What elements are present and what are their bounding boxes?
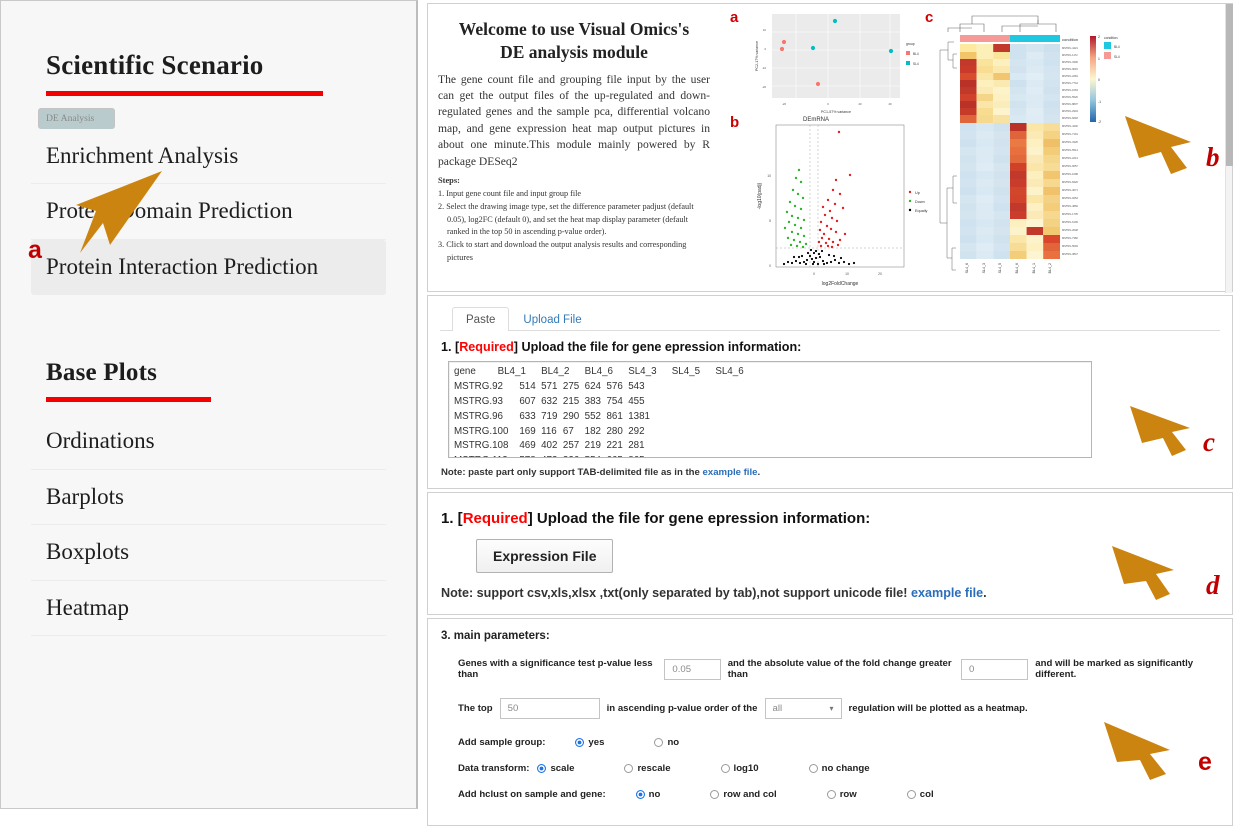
svg-text:MSTRG.2904: MSTRG.2904: [1062, 109, 1078, 113]
param-hclust-label: Add hclust on sample and gene:: [458, 789, 606, 800]
param-pvalue-input[interactable]: 0.05: [664, 659, 720, 680]
radio-sample-group-no-label: no: [667, 737, 679, 748]
expression-heatmap: condition: [938, 8, 1126, 292]
svg-text:2: 2: [1098, 35, 1100, 39]
svg-text:condition: condition: [1062, 37, 1078, 42]
svg-text:MSTRG.6618: MSTRG.6618: [1062, 116, 1078, 120]
svg-text:BL4: BL4: [913, 52, 919, 56]
upload-note: Note: support csv,xls,xlsx ,txt(only sep…: [441, 586, 1220, 600]
sidebar-item-barplots[interactable]: Barplots: [31, 470, 386, 525]
svg-text:MSTRG.7191: MSTRG.7191: [1062, 132, 1078, 136]
main-parameters-heading: 3. main parameters:: [441, 630, 1220, 642]
annotation-label-e: e: [1198, 748, 1212, 777]
svg-text:MSTRG.7382: MSTRG.7382: [1062, 236, 1078, 240]
radio-transform-rescale[interactable]: rescale: [624, 763, 670, 774]
svg-text:1: 1: [1098, 57, 1100, 61]
sidebar-item-de-analysis[interactable]: DE Analysis: [38, 108, 115, 129]
paste-required-label: 1. [Required] Upload the file for gene e…: [441, 340, 1220, 354]
radio-dot-icon: [809, 764, 818, 773]
annotation-arrow-d: [1112, 540, 1194, 602]
svg-text:MSTRG.1735: MSTRG.1735: [1062, 212, 1078, 216]
param-foldchange-input[interactable]: 0: [961, 659, 1028, 680]
sidebar-item-boxplots[interactable]: Boxplots: [31, 525, 386, 580]
svg-text:MSTRG.8837: MSTRG.8837: [1062, 102, 1078, 106]
svg-text:MSTRG.2281: MSTRG.2281: [1062, 74, 1078, 78]
svg-text:SL4: SL4: [1114, 55, 1120, 59]
svg-text:10: 10: [845, 272, 849, 276]
svg-text:BL4_2: BL4_2: [1048, 263, 1052, 273]
input-mode-tabs: Paste Upload File: [440, 306, 1220, 331]
svg-text:MSTRG.5514: MSTRG.5514: [1062, 148, 1078, 152]
paste-note: Note: paste part only support TAB-delimi…: [441, 467, 1220, 478]
svg-text:SL4: SL4: [913, 62, 919, 66]
param-topn-mid-label: in ascending p-value order of the: [607, 703, 758, 714]
radio-hclust-row-and-col[interactable]: row and col: [710, 789, 776, 800]
svg-text:MSTRG.5520: MSTRG.5520: [1062, 95, 1078, 99]
svg-text:DEmRNA: DEmRNA: [803, 117, 829, 123]
intro-paragraph: The gene count file and grouping file in…: [438, 72, 710, 171]
param-sample-group-label: Add sample group:: [458, 737, 545, 748]
annotation-arrow-e: [1104, 716, 1190, 782]
svg-text:-2: -2: [1098, 120, 1101, 124]
annotation-label-c: c: [1203, 427, 1215, 458]
svg-text:0: 0: [769, 264, 771, 268]
param-topn-pre-label: The top: [458, 703, 493, 714]
svg-text:BL4: BL4: [1114, 45, 1120, 49]
radio-transform-rescale-label: rescale: [637, 763, 670, 774]
paste-required-suffix: ] Upload the file for gene epression inf…: [514, 340, 802, 354]
upload-required-prefix: 1. [: [441, 510, 463, 527]
svg-text:MSTRG.1172: MSTRG.1172: [1062, 53, 1078, 57]
radio-dot-icon: [654, 738, 663, 747]
upload-example-file-link[interactable]: example file: [911, 586, 983, 600]
annotation-label-b: b: [1206, 142, 1220, 173]
param-regulation-select-value: all: [773, 703, 783, 714]
annotation-arrow-b: [1125, 106, 1211, 176]
svg-text:0: 0: [764, 47, 766, 51]
sidebar-section-base-plots: Base Plots Ordinations Barplots Boxplots…: [31, 321, 386, 636]
intro-step-3: 3. Click to start and download the outpu…: [438, 239, 710, 264]
intro-step-2: 2. Select the drawing image type, set th…: [438, 201, 710, 239]
pca-scatter-plot: 10 0 -10 -20 -20 0 20 40 PC1-57% varianc…: [744, 10, 924, 118]
param-pvalue-pre-label: Genes with a significance test p-value l…: [458, 658, 657, 680]
radio-dot-icon: [575, 738, 584, 747]
svg-text:5: 5: [769, 219, 771, 223]
svg-text:MSTRG.9015: MSTRG.9015: [1062, 67, 1078, 71]
sidebar-item-heatmap[interactable]: Heatmap: [31, 581, 386, 636]
svg-text:-log10(padj): -log10(padj): [757, 182, 763, 209]
chevron-down-icon: ▾: [829, 704, 833, 713]
radio-hclust-row-label: row: [840, 789, 857, 800]
radio-hclust-no[interactable]: no: [636, 789, 661, 800]
svg-text:0: 0: [813, 272, 815, 276]
radio-transform-log10[interactable]: log10: [721, 763, 759, 774]
svg-text:20: 20: [878, 272, 882, 276]
svg-text:-20: -20: [762, 85, 766, 89]
svg-text:20: 20: [858, 102, 862, 106]
svg-text:MSTRG.1098: MSTRG.1098: [1062, 172, 1078, 176]
intro-heading: Welcome to use Visual Omics's DE analysi…: [452, 18, 696, 64]
paste-required-prefix: 1. [: [441, 340, 459, 354]
sidebar-section-title-base-plots: Base Plots: [46, 359, 386, 387]
svg-text:SL4_6: SL4_6: [965, 263, 969, 273]
svg-text:MSTRG.4402: MSTRG.4402: [1062, 124, 1078, 128]
radio-transform-scale[interactable]: scale: [537, 763, 574, 774]
radio-transform-scale-label: scale: [550, 763, 574, 774]
svg-text:MSTRG.3390: MSTRG.3390: [1062, 60, 1078, 64]
sidebar-item-ordinations[interactable]: Ordinations: [31, 414, 386, 469]
radio-dot-icon: [624, 764, 633, 773]
upload-note-text: Note: support csv,xls,xlsx ,txt(only sep…: [441, 586, 911, 600]
paste-input-card: Paste Upload File 1. [Required] Upload t…: [427, 295, 1233, 489]
radio-dot-icon: [636, 790, 645, 799]
radio-dot-icon: [721, 764, 730, 773]
intro-steps-label: Steps:: [438, 176, 710, 185]
expression-file-button[interactable]: Expression File: [476, 539, 613, 573]
paste-note-end: .: [757, 467, 760, 478]
radio-hclust-col[interactable]: col: [907, 789, 934, 800]
annotation-arrow-c: [1130, 398, 1210, 458]
svg-text:MSTRG.4860: MSTRG.4860: [1062, 204, 1078, 208]
figure-panel-label-a: a: [730, 9, 738, 26]
annotation-label-d: d: [1206, 570, 1220, 601]
svg-text:log2FoldChange: log2FoldChange: [822, 281, 859, 287]
tab-upload-file[interactable]: Upload File: [509, 307, 595, 331]
svg-text:PC2-17% variance: PC2-17% variance: [755, 41, 759, 71]
svg-text:BL4_6: BL4_6: [1015, 263, 1019, 273]
svg-text:0: 0: [1098, 78, 1100, 82]
svg-text:MSTRG.2648: MSTRG.2648: [1062, 228, 1078, 232]
svg-text:MSTRG.9254: MSTRG.9254: [1062, 196, 1078, 200]
scrollbar-thumb[interactable]: [1226, 4, 1233, 166]
upload-required-label: 1. [Required] Upload the file for gene e…: [441, 510, 1220, 527]
intro-card: Welcome to use Visual Omics's DE analysi…: [427, 3, 1233, 292]
intro-step-1: 1. Input gene count file and input group…: [438, 188, 710, 201]
svg-text:Up: Up: [915, 191, 920, 195]
paste-note-text: Note: paste part only support TAB-delimi…: [441, 467, 703, 478]
svg-text:10: 10: [763, 28, 767, 32]
radio-dot-icon: [907, 790, 916, 799]
svg-text:BL4_1: BL4_1: [1032, 263, 1036, 273]
radio-hclust-row-and-col-label: row and col: [723, 789, 776, 800]
param-topn-post-label: regulation will be plotted as a heatmap.: [849, 703, 1028, 714]
svg-text:MSTRG.8420: MSTRG.8420: [1062, 180, 1078, 184]
svg-text:MSTRG.5093: MSTRG.5093: [1062, 244, 1078, 248]
sidebar-title-underline-1: [46, 91, 323, 96]
gene-expression-textarea[interactable]: gene BL4_1 BL4_2 BL4_6 SL4_3 SL4_5 SL4_6…: [448, 361, 1092, 458]
intro-card-scrollbar[interactable]: [1225, 4, 1232, 293]
param-threshold-post-label: and will be marked as significantly diff…: [1035, 658, 1220, 680]
param-data-transform-label: Data transform:: [458, 763, 529, 774]
svg-text:MSTRG.6657: MSTRG.6657: [1062, 164, 1078, 168]
annotation-arrow-a: [76, 171, 164, 263]
svg-text:MSTRG.1063: MSTRG.1063: [1062, 88, 1078, 92]
svg-text:MSTRG.6109: MSTRG.6109: [1062, 220, 1078, 224]
svg-text:SL4_3: SL4_3: [982, 263, 986, 273]
svg-text:MSTRG.2213: MSTRG.2213: [1062, 156, 1078, 160]
svg-text:group: group: [906, 42, 915, 46]
volcano-plot: DEmRNA: [744, 112, 934, 290]
upload-required-word: Required: [463, 510, 528, 527]
radio-dot-icon: [537, 764, 546, 773]
radio-dot-icon: [827, 790, 836, 799]
upload-required-suffix: ] Upload the file for gene epression inf…: [528, 510, 871, 527]
sidebar-section-title-scientific-scenario: Scientific Scenario: [46, 50, 386, 81]
svg-text:MSTRG.7744: MSTRG.7744: [1062, 81, 1078, 85]
param-topn-input[interactable]: 50: [500, 698, 600, 719]
svg-text:MSTRG.3326: MSTRG.3326: [1062, 140, 1078, 144]
radio-hclust-no-label: no: [649, 789, 661, 800]
radio-hclust-row[interactable]: row: [827, 789, 857, 800]
tab-paste[interactable]: Paste: [452, 307, 509, 331]
sidebar-title-underline-2: [46, 397, 211, 402]
svg-text:10: 10: [767, 174, 771, 178]
param-regulation-select[interactable]: all ▾: [765, 698, 842, 719]
radio-transform-no-change-label: no change: [822, 763, 870, 774]
sidebar-menu-base-plots: Ordinations Barplots Boxplots Heatmap: [31, 414, 386, 636]
radio-transform-no-change[interactable]: no change: [809, 763, 870, 774]
svg-text:MSTRG.3847: MSTRG.3847: [1062, 252, 1078, 256]
paste-required-word: Required: [459, 340, 514, 354]
svg-text:-20: -20: [782, 102, 786, 106]
param-row-hclust: Add hclust on sample and gene: no row an…: [458, 789, 1220, 800]
svg-text:-10: -10: [762, 66, 766, 70]
svg-text:MSTRG.4421: MSTRG.4421: [1062, 46, 1078, 50]
param-row-threshold: Genes with a significance test p-value l…: [458, 658, 1220, 680]
figure-panel-label-c: c: [925, 9, 933, 26]
radio-hclust-col-label: col: [920, 789, 934, 800]
app-root: Scientific Scenario DE Analysis Enrichme…: [0, 0, 1239, 809]
svg-text:condition: condition: [1104, 36, 1118, 40]
svg-text:SL4_5: SL4_5: [998, 263, 1002, 273]
svg-text:MSTRG.3071: MSTRG.3071: [1062, 188, 1078, 192]
radio-sample-group-yes-label: yes: [588, 737, 604, 748]
svg-text:40: 40: [888, 102, 892, 106]
main-panel: Welcome to use Visual Omics's DE analysi…: [418, 0, 1239, 809]
svg-text:-1: -1: [1098, 100, 1101, 104]
radio-sample-group-no[interactable]: no: [654, 737, 679, 748]
radio-transform-log10-label: log10: [734, 763, 759, 774]
intro-text-block: Welcome to use Visual Omics's DE analysi…: [428, 4, 724, 291]
radio-dot-icon: [710, 790, 719, 799]
figure-panel-label-b: b: [730, 114, 739, 131]
svg-text:0: 0: [827, 102, 829, 106]
upload-note-end: .: [983, 586, 987, 600]
svg-text:Down: Down: [915, 200, 925, 204]
sidebar: Scientific Scenario DE Analysis Enrichme…: [0, 0, 418, 809]
radio-sample-group-yes[interactable]: yes: [575, 737, 604, 748]
annotation-label-a: a: [28, 236, 42, 265]
paste-example-file-link[interactable]: example file: [703, 467, 758, 478]
svg-text:Equally: Equally: [915, 209, 928, 213]
param-foldchange-mid-label: and the absolute value of the fold chang…: [728, 658, 954, 680]
